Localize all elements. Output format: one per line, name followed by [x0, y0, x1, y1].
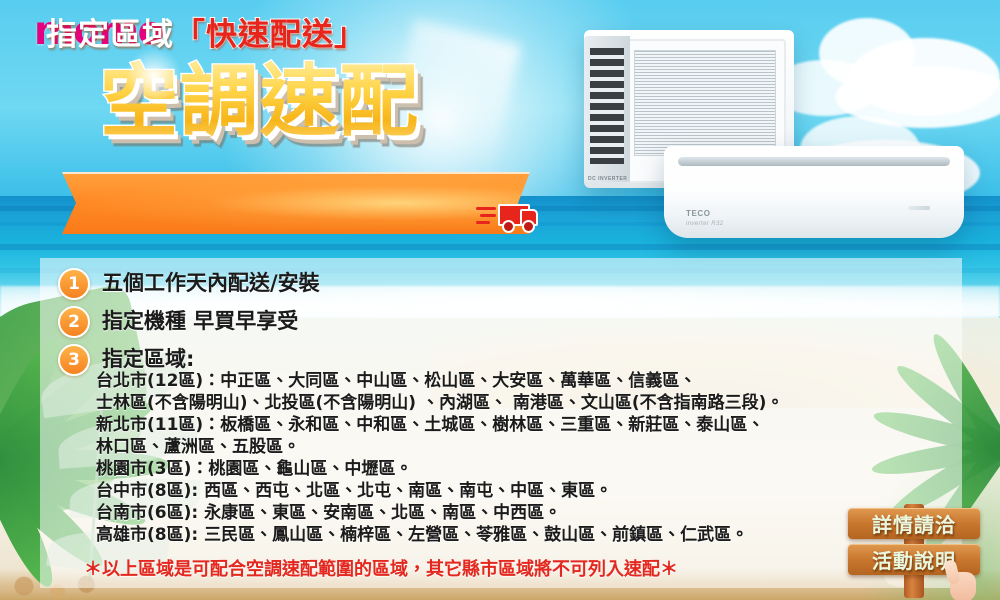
benefit-number-badge: 3 [58, 344, 90, 376]
ac-air-vent [678, 157, 950, 166]
benefit-number-badge: 2 [58, 306, 90, 338]
region-line: 台南市(6區): 永康區、東區、安南區、北區、南區、中西區。 [96, 502, 976, 524]
pointing-hand-icon [944, 560, 978, 600]
ac-grille [634, 50, 776, 156]
region-line: 台北市(12區)：中正區、大同區、中山區、松山區、大安區、萬華區、信義區、 [96, 370, 976, 392]
split-unit-brand: TECO [686, 209, 711, 218]
benefit-item-2: 2 指定機種 早買早享受 [58, 306, 298, 338]
benefit-number-badge: 1 [58, 268, 90, 300]
region-line: 台中市(8區): 西區、西屯、北區、北屯、南區、南屯、中區、東區。 [96, 480, 976, 502]
window-unit-label: DC INVERTER [588, 176, 648, 182]
promo-banner: DC INVERTER TECO inverter R32 momo 空調速配 … [0, 0, 1000, 600]
ribbon-text: 指定區域 「快速配送」 [46, 0, 366, 62]
region-line: 士林區(不含陽明山)、北投區(不含陽明山) 、內湖區、 南港區、文山區(不含指南… [96, 392, 976, 414]
hero-title-wrapper: 空調速配 空調速配 [100, 50, 520, 160]
split-unit-sub-label: inverter R32 [686, 221, 723, 227]
benefit-label: 指定機種 早買早享受 [102, 306, 298, 336]
ac-display-panel [908, 206, 930, 210]
region-list: 台北市(12區)：中正區、大同區、中山區、松山區、大安區、萬華區、信義區、 士林… [96, 370, 976, 546]
benefit-item-1: 1 五個工作天內配送/安裝 [58, 268, 320, 300]
region-line: 林口區、蘆洲區、五股區。 [96, 436, 976, 458]
activity-info-sign-button[interactable]: 詳情請洽 活動說明 [848, 498, 980, 598]
ribbon-label-area: 指定區域 [46, 9, 174, 54]
split-air-conditioner-image: TECO inverter R32 [664, 146, 964, 238]
delivery-truck-icon [476, 200, 538, 232]
region-line: 桃園市(3區)：桃園區、龜山區、中壢區。 [96, 458, 976, 480]
footnote-disclaimer: ＊以上區域是可配合空調速配範圍的區域，其它縣市區域將不可列入速配＊ [84, 558, 678, 582]
ribbon-label-fastdelivery: 「快速配送」 [174, 9, 366, 54]
ac-condenser-fins [590, 48, 624, 164]
fast-delivery-ribbon [62, 172, 530, 234]
benefit-label: 五個工作天內配送/安裝 [102, 268, 320, 298]
wave-band [0, 244, 1000, 250]
region-line: 新北市(11區)：板橋區、永和區、中和區、土城區、樹林區、三重區、新莊區、泰山區… [96, 414, 976, 436]
region-line: 高雄市(8區): 三民區、鳳山區、楠梓區、左營區、苓雅區、鼓山區、前鎮區、仁武區… [96, 524, 976, 546]
cta-line-1: 詳情請洽 [848, 508, 980, 539]
